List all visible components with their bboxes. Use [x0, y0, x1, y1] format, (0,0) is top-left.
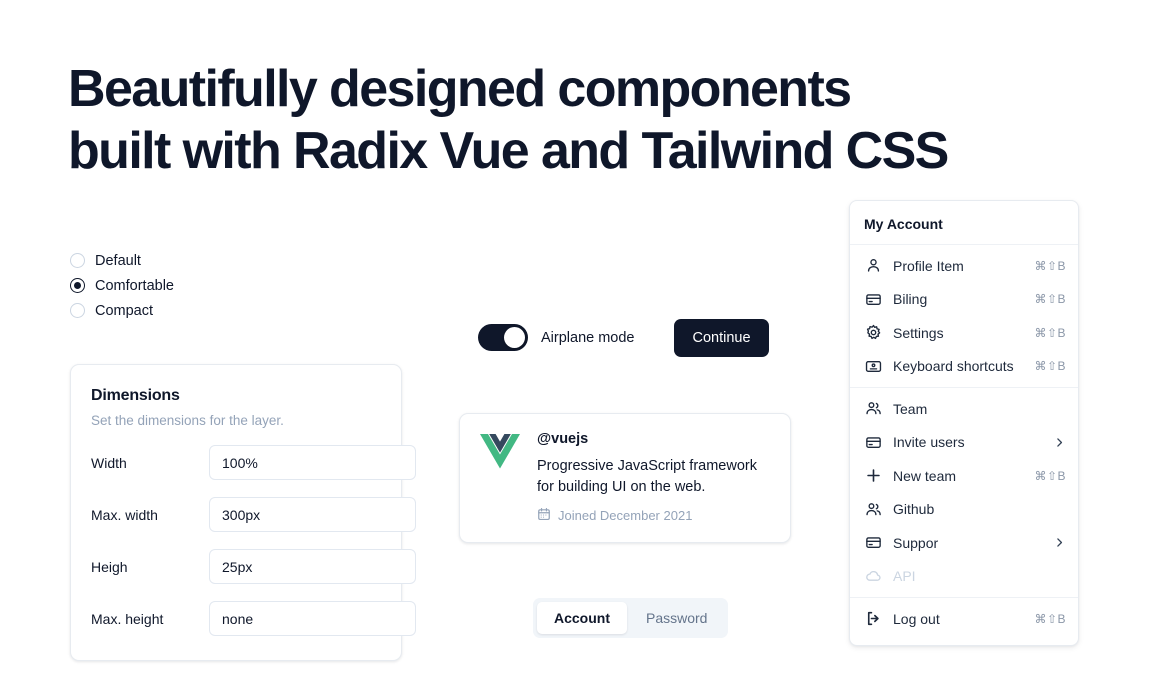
field-input-max-height[interactable]	[209, 601, 416, 636]
dimensions-fields: WidthMax. widthHeighMax. height	[91, 445, 379, 636]
menu-item-shortcut: ⌘⇧B	[1034, 359, 1066, 373]
menu-group: Log out⌘⇧B	[850, 598, 1078, 640]
menu-item-label: Settings	[893, 325, 1034, 341]
dimension-field-row: Max. width	[91, 497, 379, 532]
menu-item-shortcut: ⌘⇧B	[1034, 259, 1066, 273]
menu-group: Profile Item⌘⇧BBiling⌘⇧BSettings⌘⇧BKeybo…	[850, 245, 1078, 387]
credit-card-icon	[864, 290, 882, 308]
user-icon	[864, 257, 882, 275]
vue-joined-text: Joined December 2021	[558, 508, 692, 523]
radio-mark[interactable]	[70, 253, 85, 268]
calendar-icon	[537, 507, 551, 524]
menu-item-api: API	[850, 560, 1078, 594]
airplane-mode-row[interactable]: Airplane mode	[478, 324, 635, 351]
radio-option-default[interactable]: Default	[70, 248, 300, 273]
continue-button[interactable]: Continue	[674, 319, 769, 357]
vue-handle: @vuejs	[537, 431, 770, 447]
page-root: Beautifully designed components built wi…	[0, 0, 1152, 700]
switch-knob	[504, 327, 525, 348]
menu-item-label: Log out	[893, 611, 1034, 627]
gear-icon	[864, 324, 882, 342]
menu-item-label: API	[893, 568, 1066, 584]
dimension-field-row: Heigh	[91, 549, 379, 584]
density-radio-group[interactable]: DefaultComfortableCompact	[70, 248, 300, 323]
dimensions-card-title: Dimensions	[91, 387, 379, 405]
dimension-field-row: Max. height	[91, 601, 379, 636]
page-title-line-2: built with Radix Vue and Tailwind CSS	[68, 120, 1068, 182]
keyboard-icon	[864, 357, 882, 375]
chevron-right-icon	[1053, 536, 1066, 549]
menu-item-log-out[interactable]: Log out⌘⇧B	[850, 602, 1078, 636]
menu-item-shortcut: ⌘⇧B	[1034, 292, 1066, 306]
settings-tabs[interactable]: AccountPassword	[533, 598, 728, 638]
menu-item-team[interactable]: Team	[850, 392, 1078, 426]
menu-item-label: Invite users	[893, 434, 1053, 450]
menu-item-keyboard-shortcuts[interactable]: Keyboard shortcuts⌘⇧B	[850, 350, 1078, 384]
users-icon	[864, 500, 882, 518]
page-title: Beautifully designed components built wi…	[68, 58, 1068, 182]
menu-item-label: Github	[893, 501, 1066, 517]
field-label-heigh: Heigh	[91, 559, 209, 575]
plus-icon	[864, 467, 882, 485]
cloud-icon	[864, 567, 882, 585]
radio-option-label: Default	[95, 253, 141, 269]
menu-item-label: Profile Item	[893, 258, 1034, 274]
users-icon	[864, 400, 882, 418]
field-label-max-height: Max. height	[91, 611, 209, 627]
field-label-width: Width	[91, 455, 209, 471]
menu-item-settings[interactable]: Settings⌘⇧B	[850, 316, 1078, 350]
menu-item-label: Biling	[893, 291, 1034, 307]
radio-option-compact[interactable]: Compact	[70, 298, 300, 323]
radio-option-comfortable[interactable]: Comfortable	[70, 273, 300, 298]
vue-hover-card-body: @vuejs Progressive JavaScript framework …	[537, 431, 770, 524]
vue-description: Progressive JavaScript framework for bui…	[537, 456, 770, 498]
menu-item-github[interactable]: Github	[850, 493, 1078, 527]
dimensions-card-subtitle: Set the dimensions for the layer.	[91, 413, 379, 428]
tab-password[interactable]: Password	[629, 602, 724, 634]
field-input-heigh[interactable]	[209, 549, 416, 584]
radio-option-label: Comfortable	[95, 278, 174, 294]
menu-item-shortcut: ⌘⇧B	[1034, 612, 1066, 626]
menu-header: My Account	[850, 206, 1078, 244]
menu-item-invite-users[interactable]: Invite users	[850, 426, 1078, 460]
radio-mark[interactable]	[70, 303, 85, 318]
menu-item-label: New team	[893, 468, 1034, 484]
dimensions-card: Dimensions Set the dimensions for the la…	[70, 364, 402, 661]
account-dropdown-menu: My Account Profile Item⌘⇧BBiling⌘⇧BSetti…	[849, 200, 1079, 646]
credit-card-icon	[864, 433, 882, 451]
field-label-max-width: Max. width	[91, 507, 209, 523]
vue-joined-row: Joined December 2021	[537, 507, 770, 524]
menu-item-label: Suppor	[893, 535, 1053, 551]
menu-group: TeamInvite usersNew team⌘⇧BGithubSupporA…	[850, 388, 1078, 597]
menu-item-new-team[interactable]: New team⌘⇧B	[850, 459, 1078, 493]
menu-item-suppor[interactable]: Suppor	[850, 526, 1078, 560]
menu-item-label: Team	[893, 401, 1066, 417]
radio-option-label: Compact	[95, 303, 153, 319]
vue-hover-card: @vuejs Progressive JavaScript framework …	[459, 413, 791, 543]
menu-item-shortcut: ⌘⇧B	[1034, 469, 1066, 483]
field-input-width[interactable]	[209, 445, 416, 480]
vue-logo-icon	[480, 434, 520, 524]
dimension-field-row: Width	[91, 445, 379, 480]
chevron-right-icon	[1053, 436, 1066, 449]
logout-icon	[864, 610, 882, 628]
menu-item-shortcut: ⌘⇧B	[1034, 326, 1066, 340]
credit-card-icon	[864, 534, 882, 552]
airplane-mode-switch[interactable]	[478, 324, 528, 351]
menu-item-profile-item[interactable]: Profile Item⌘⇧B	[850, 249, 1078, 283]
radio-mark[interactable]	[70, 278, 85, 293]
airplane-mode-label: Airplane mode	[541, 330, 635, 346]
menu-groups: Profile Item⌘⇧BBiling⌘⇧BSettings⌘⇧BKeybo…	[850, 245, 1078, 640]
menu-item-label: Keyboard shortcuts	[893, 358, 1034, 374]
menu-item-biling[interactable]: Biling⌘⇧B	[850, 283, 1078, 317]
tab-account[interactable]: Account	[537, 602, 627, 634]
page-title-line-1: Beautifully designed components	[68, 58, 1068, 120]
field-input-max-width[interactable]	[209, 497, 416, 532]
